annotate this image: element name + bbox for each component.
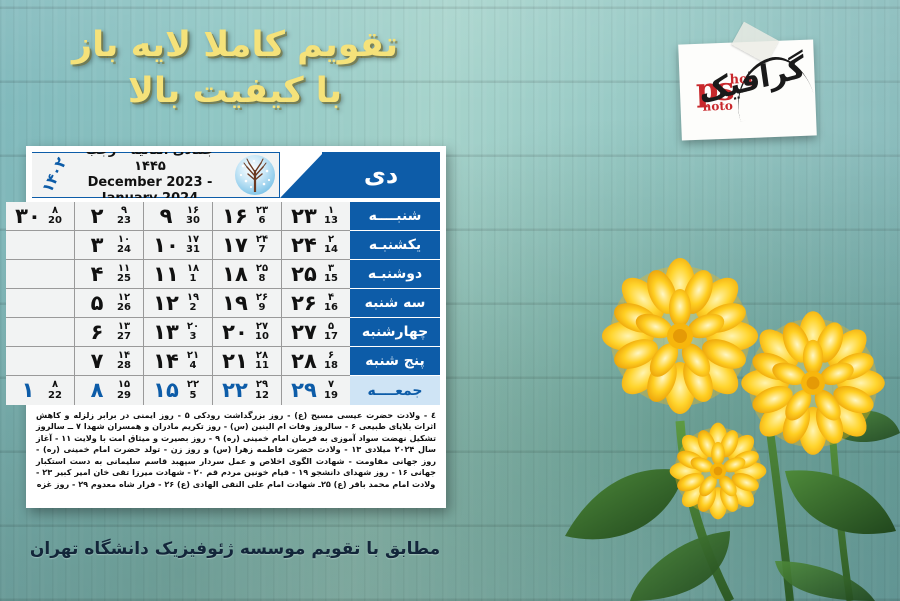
gregorian-day-number: 1 (190, 274, 197, 284)
gregorian-day-number: 15 (324, 274, 338, 284)
hijri-day-number: ۸ (52, 380, 58, 390)
gregorian-day-number: 16 (324, 303, 338, 313)
logo-content: ps hop hoto گرافیک (678, 39, 817, 140)
persian-day-number: ۱۲ (149, 293, 183, 314)
persian-day-number: ۲۳ (287, 206, 321, 227)
gregorian-day-number: 9 (259, 303, 266, 313)
persian-day-number: ۲۶ (287, 293, 321, 314)
day-cell[interactable]: ۱۱۱۸1 (143, 260, 212, 288)
secondary-dates: ۲۳6 (252, 206, 272, 226)
persian-day-number: ۶ (80, 322, 114, 343)
calendar-card: دی ۱۴۰۲ (26, 146, 446, 508)
headline: تقویم کاملا لایه باز با کیفیت بالا (0, 22, 470, 114)
week-row: ۲۴۲14۱۷۲۴7۱۰۱۷31۳۱۰24 (6, 231, 350, 260)
gregorian-day-number: 20 (48, 216, 62, 226)
secondary-dates: ۱۶30 (183, 206, 203, 226)
winter-tree-icon (234, 154, 276, 196)
persian-day-number: ۴ (80, 264, 114, 285)
bottom-caption: مطابق با تقویم موسسه ژئوفیزیک دانشگاه ته… (0, 539, 470, 559)
persian-day-number: ۲۴ (287, 235, 321, 256)
secondary-dates: ۱13 (321, 206, 341, 226)
gregorian-day-number: 25 (117, 274, 131, 284)
weekday-labels-column: شنبــــهیکشنبـهدوشنبـهسه شنبهچهارشنبهپنج… (350, 202, 440, 405)
gregorian-day-number: 18 (324, 361, 338, 371)
gregorian-day-number: 23 (117, 216, 131, 226)
secondary-dates: ۲۱4 (183, 351, 203, 371)
day-cell[interactable]: ۱۲۱۹2 (143, 289, 212, 317)
gregorian-day-number: 17 (324, 332, 338, 342)
weeks-container: ۲۳۱13۱۶۲۳6۹۱۶30۲۹23۳۰۸20۲۴۲14۱۷۲۴7۱۰۱۷31… (6, 202, 350, 405)
gregorian-day-number: 22 (48, 391, 62, 401)
persian-day-number: ۱۴ (149, 351, 183, 372)
week-row: ۲۷۵17۲۰۲۷10۱۳۲۰3۶۱۳27 (6, 318, 350, 347)
day-cell[interactable]: ۲۶۴16 (281, 289, 350, 317)
day-cell[interactable]: ۴۱۱25 (74, 260, 143, 288)
logo-paper-note: ps hop hoto گرافیک (678, 39, 817, 140)
gregorian-day-number: 29 (117, 391, 131, 401)
persian-day-number: ۱۶ (218, 206, 252, 227)
persian-day-number: ۲ (80, 206, 114, 227)
secondary-dates: ۱۸1 (183, 264, 203, 284)
day-cell[interactable]: ۱۳۲۰3 (143, 318, 212, 346)
secondary-dates: ۱۲26 (114, 293, 134, 313)
week-row: ۲۵۳15۱۸۲۵8۱۱۱۸1۴۱۱25 (6, 260, 350, 289)
gregorian-day-number: 19 (324, 391, 338, 401)
secondary-dates: ۹23 (114, 206, 134, 226)
persian-day-number: ۸ (80, 380, 114, 401)
gregorian-day-number: 28 (117, 361, 131, 371)
hijri-day-number: ۲۹ (256, 380, 268, 390)
secondary-dates: ۲14 (321, 235, 341, 255)
persian-day-number: ۲۷ (287, 322, 321, 343)
persian-day-number: ۲۲ (218, 380, 252, 401)
day-cell-empty (6, 289, 74, 317)
gregorian-day-number: 27 (117, 332, 131, 342)
day-cell[interactable]: ۳۰۸20 (6, 202, 74, 230)
persian-day-number: ۳۰ (11, 206, 45, 227)
gregorian-day-number: 30 (186, 216, 200, 226)
persian-day-number: ۱۷ (218, 235, 252, 256)
calendar-grid: شنبــــهیکشنبـهدوشنبـهسه شنبهچهارشنبهپنج… (32, 202, 440, 405)
calendar-footnotes: ٤ - ولادت حضرت عیسی مسیح (ع) - روز بزرگد… (32, 408, 440, 490)
secondary-dates: ۱۱25 (114, 264, 134, 284)
week-row: ۲۹۷19۲۲۲۹12۱۵۲۲5۸۱۵29۱۸22 (6, 376, 350, 405)
persian-day-number: ۲۱ (218, 351, 252, 372)
gregorian-day-number: 31 (186, 245, 200, 255)
day-cell[interactable]: ۸۱۵29 (74, 376, 143, 405)
secondary-dates: ۸22 (45, 380, 65, 400)
day-cell-empty (6, 231, 74, 259)
secondary-dates: ۱۳27 (114, 322, 134, 342)
day-cell[interactable]: ۷۱۴28 (74, 347, 143, 375)
gregorian-day-number: 7 (259, 245, 266, 255)
gregorian-day-number: 24 (117, 245, 131, 255)
weekday-label: پنج شنبه (350, 347, 440, 376)
persian-day-number: ۲۰ (218, 322, 252, 343)
day-cell[interactable]: ۲۰۲۷10 (212, 318, 281, 346)
week-row: ۲۶۴16۱۹۲۶9۱۲۱۹2۵۱۲26 (6, 289, 350, 318)
day-cell[interactable]: ۱۹۲۶9 (212, 289, 281, 317)
hijri-day-number: ۷ (328, 380, 334, 390)
persian-day-number: ۱۳ (149, 322, 183, 343)
persian-day-number: ۷ (80, 351, 114, 372)
gregorian-day-number: 12 (255, 391, 269, 401)
secondary-dates: ۲۰3 (183, 322, 203, 342)
gregorian-day-number: 4 (190, 361, 197, 371)
day-cell[interactable]: ۱۸۲۵8 (212, 260, 281, 288)
secondary-dates: ۲۸11 (252, 351, 272, 371)
weekday-label: چهارشنبه (350, 318, 440, 347)
day-cell[interactable]: ۲۱۲۸11 (212, 347, 281, 375)
gregorian-day-number: 8 (259, 274, 266, 284)
secondary-dates: ۱۰24 (114, 235, 134, 255)
persian-day-number: ۱۹ (218, 293, 252, 314)
headline-line-1: تقویم کاملا لایه باز (0, 22, 470, 68)
gregorian-day-number: 3 (190, 332, 197, 342)
gregorian-day-number: 26 (117, 303, 131, 313)
day-cell[interactable]: ۲۴۲14 (281, 231, 350, 259)
hijri-day-number: ۲۲ (187, 380, 199, 390)
gregorian-day-number: 14 (324, 245, 338, 255)
gregorian-day-number: 13 (324, 216, 338, 226)
persian-day-number: ۲۹ (287, 380, 321, 401)
year-wedge (280, 152, 324, 198)
secondary-dates: ۶18 (321, 351, 341, 371)
day-cell[interactable]: ۲۷۵17 (281, 318, 350, 346)
hijri-day-number: ۱۵ (118, 380, 130, 390)
day-cell[interactable]: ۹۱۶30 (143, 202, 212, 230)
persian-day-number: ۱۸ (218, 264, 252, 285)
day-cell[interactable]: ۲۲۲۹12 (212, 376, 281, 405)
day-cell[interactable]: ۱۴۲۱4 (143, 347, 212, 375)
gregorian-day-number: 10 (255, 332, 269, 342)
gregorian-range: December 2023 - January 2024 (72, 175, 228, 198)
secondary-dates: ۲۶9 (252, 293, 272, 313)
day-cell[interactable]: ۱۸22 (6, 376, 74, 405)
day-cell-empty (6, 347, 74, 375)
day-cell-empty (6, 260, 74, 288)
secondary-dates: ۸20 (45, 206, 65, 226)
weekday-label: دوشنبـه (350, 260, 440, 289)
secondary-dates: ۱۵29 (114, 380, 134, 400)
persian-day-number: ۲۸ (287, 351, 321, 372)
hijri-range: جمادی الثانیه - رجب ۱۴۴۵ (72, 152, 228, 175)
weekday-label: شنبــــه (350, 202, 440, 231)
calendar-header-info: ۱۴۰۲ (32, 152, 280, 198)
day-cell[interactable]: ۲۹۷19 (281, 376, 350, 405)
persian-day-number: ۱ (11, 380, 45, 401)
day-cell[interactable]: ۱۵۲۲5 (143, 376, 212, 405)
headline-line-2: با کیفیت بالا (0, 68, 470, 114)
persian-day-number: ۹ (149, 206, 183, 227)
secondary-dates: ۳15 (321, 264, 341, 284)
day-cell[interactable]: ۵۱۲26 (74, 289, 143, 317)
gregorian-day-number: 11 (255, 361, 269, 371)
weekday-label: یکشنبـه (350, 231, 440, 260)
day-cell[interactable]: ۲۸۶18 (281, 347, 350, 375)
calendar-header: دی ۱۴۰۲ (32, 152, 440, 198)
day-cell[interactable]: ۱۶۲۳6 (212, 202, 281, 230)
persian-day-number: ۱۱ (149, 264, 183, 285)
day-cell[interactable]: ۲۳۱13 (281, 202, 350, 230)
week-row: ۲۳۱13۱۶۲۳6۹۱۶30۲۹23۳۰۸20 (6, 202, 350, 231)
secondary-dates: ۲۷10 (252, 322, 272, 342)
secondary-dates: ۲۴7 (252, 235, 272, 255)
month-name: دی (322, 152, 440, 198)
persian-day-number: ۲۵ (287, 264, 321, 285)
persian-day-number: ۱۵ (149, 380, 183, 401)
gregorian-day-number: 6 (259, 216, 266, 226)
secondary-dates: ۵17 (321, 322, 341, 342)
secondary-dates: ۴16 (321, 293, 341, 313)
day-cell[interactable]: ۱۰۱۷31 (143, 231, 212, 259)
day-cell-empty (6, 318, 74, 346)
secondary-dates: ۲۹12 (252, 380, 272, 400)
day-cell[interactable]: ۶۱۳27 (74, 318, 143, 346)
secondary-dates: ۱۷31 (183, 235, 203, 255)
gregorian-day-number: 5 (190, 391, 197, 401)
flowers-decoration (430, 171, 900, 601)
day-cell[interactable]: ۲۹23 (74, 202, 143, 230)
week-row: ۲۸۶18۲۱۲۸11۱۴۲۱4۷۱۴28 (6, 347, 350, 376)
persian-day-number: ۳ (80, 235, 114, 256)
secondary-dates: ۱۹2 (183, 293, 203, 313)
weekday-label: جمعــــه (350, 376, 440, 405)
secondary-dates: ۲۵8 (252, 264, 272, 284)
secondary-dates: ۷19 (321, 380, 341, 400)
day-cell[interactable]: ۲۵۳15 (281, 260, 350, 288)
day-cell[interactable]: ۳۱۰24 (74, 231, 143, 259)
persian-day-number: ۱۰ (149, 235, 183, 256)
secondary-dates: ۲۲5 (183, 380, 203, 400)
gregorian-day-number: 2 (190, 303, 197, 313)
secondary-dates: ۱۴28 (114, 351, 134, 371)
day-cell[interactable]: ۱۷۲۴7 (212, 231, 281, 259)
persian-day-number: ۵ (80, 293, 114, 314)
weekday-label: سه شنبه (350, 289, 440, 318)
